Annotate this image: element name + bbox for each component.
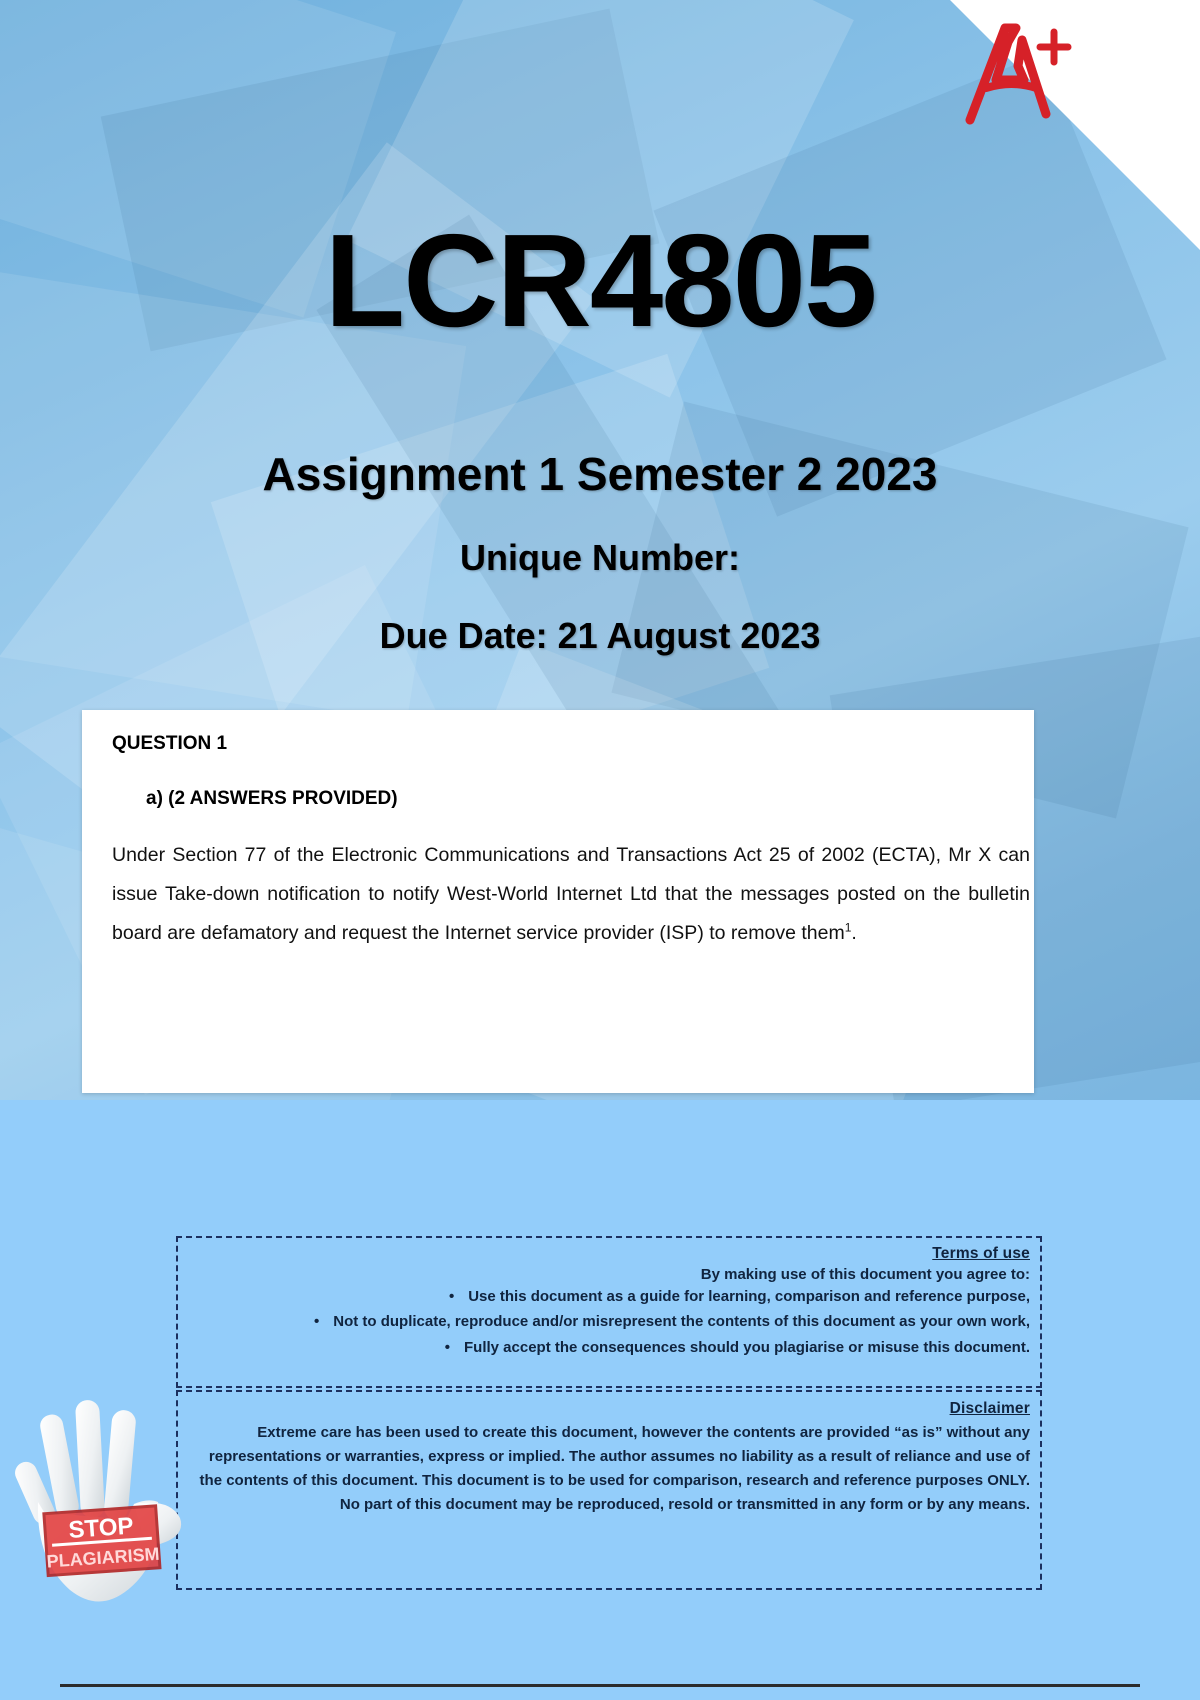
assignment-line: Assignment 1 Semester 2 2023 [0,347,1200,501]
list-item-label: Use this document as a guide for learnin… [468,1288,1030,1305]
disclaimer-body: Extreme care has been used to create thi… [188,1421,1030,1517]
a-plus-grade-icon [950,10,1080,140]
terms-intro: By making use of this document you agree… [188,1266,1030,1283]
question-sub-heading: a) (2 ANSWERS PROVIDED) [146,788,1016,810]
list-item: •Fully accept the consequences should yo… [188,1336,1030,1359]
bullet-icon: • [445,1336,450,1359]
list-item: •Use this document as a guide for learni… [188,1285,1030,1308]
list-item-label: Fully accept the consequences should you… [464,1339,1030,1356]
due-date-line: Due Date: 21 August 2023 [0,579,1200,657]
stop-plagiarism-hand-icon: STOP PLAGIARISM [8,1352,198,1617]
disclaimer-box: Disclaimer Extreme care has been used to… [176,1390,1042,1590]
page-bottom-rule [60,1684,1140,1687]
list-item: •Not to duplicate, reproduce and/or misr… [188,1310,1030,1333]
bullet-icon: • [314,1310,319,1333]
cover-title-block: LCR4805 Assignment 1 Semester 2 2023 Uni… [0,215,1200,657]
bullet-icon: • [449,1285,454,1308]
question-body-end: . [851,922,856,944]
question-body: Under Section 77 of the Electronic Commu… [112,836,1030,953]
disclaimer-title: Disclaimer [188,1400,1030,1418]
question-card: QUESTION 1 a) (2 ANSWERS PROVIDED) Under… [82,710,1034,1093]
list-item-label: Not to duplicate, reproduce and/or misre… [333,1313,1030,1330]
terms-list: •Use this document as a guide for learni… [188,1285,1030,1359]
terms-of-use-box: Terms of use By making use of this docum… [176,1236,1042,1388]
question-body-text: Under Section 77 of the Electronic Commu… [112,844,1030,944]
question-heading: QUESTION 1 [112,733,1016,755]
course-code: LCR4805 [0,215,1200,347]
document-page: LCR4805 Assignment 1 Semester 2 2023 Uni… [0,0,1200,1700]
unique-number-line: Unique Number: [0,501,1200,579]
terms-title: Terms of use [188,1245,1030,1263]
